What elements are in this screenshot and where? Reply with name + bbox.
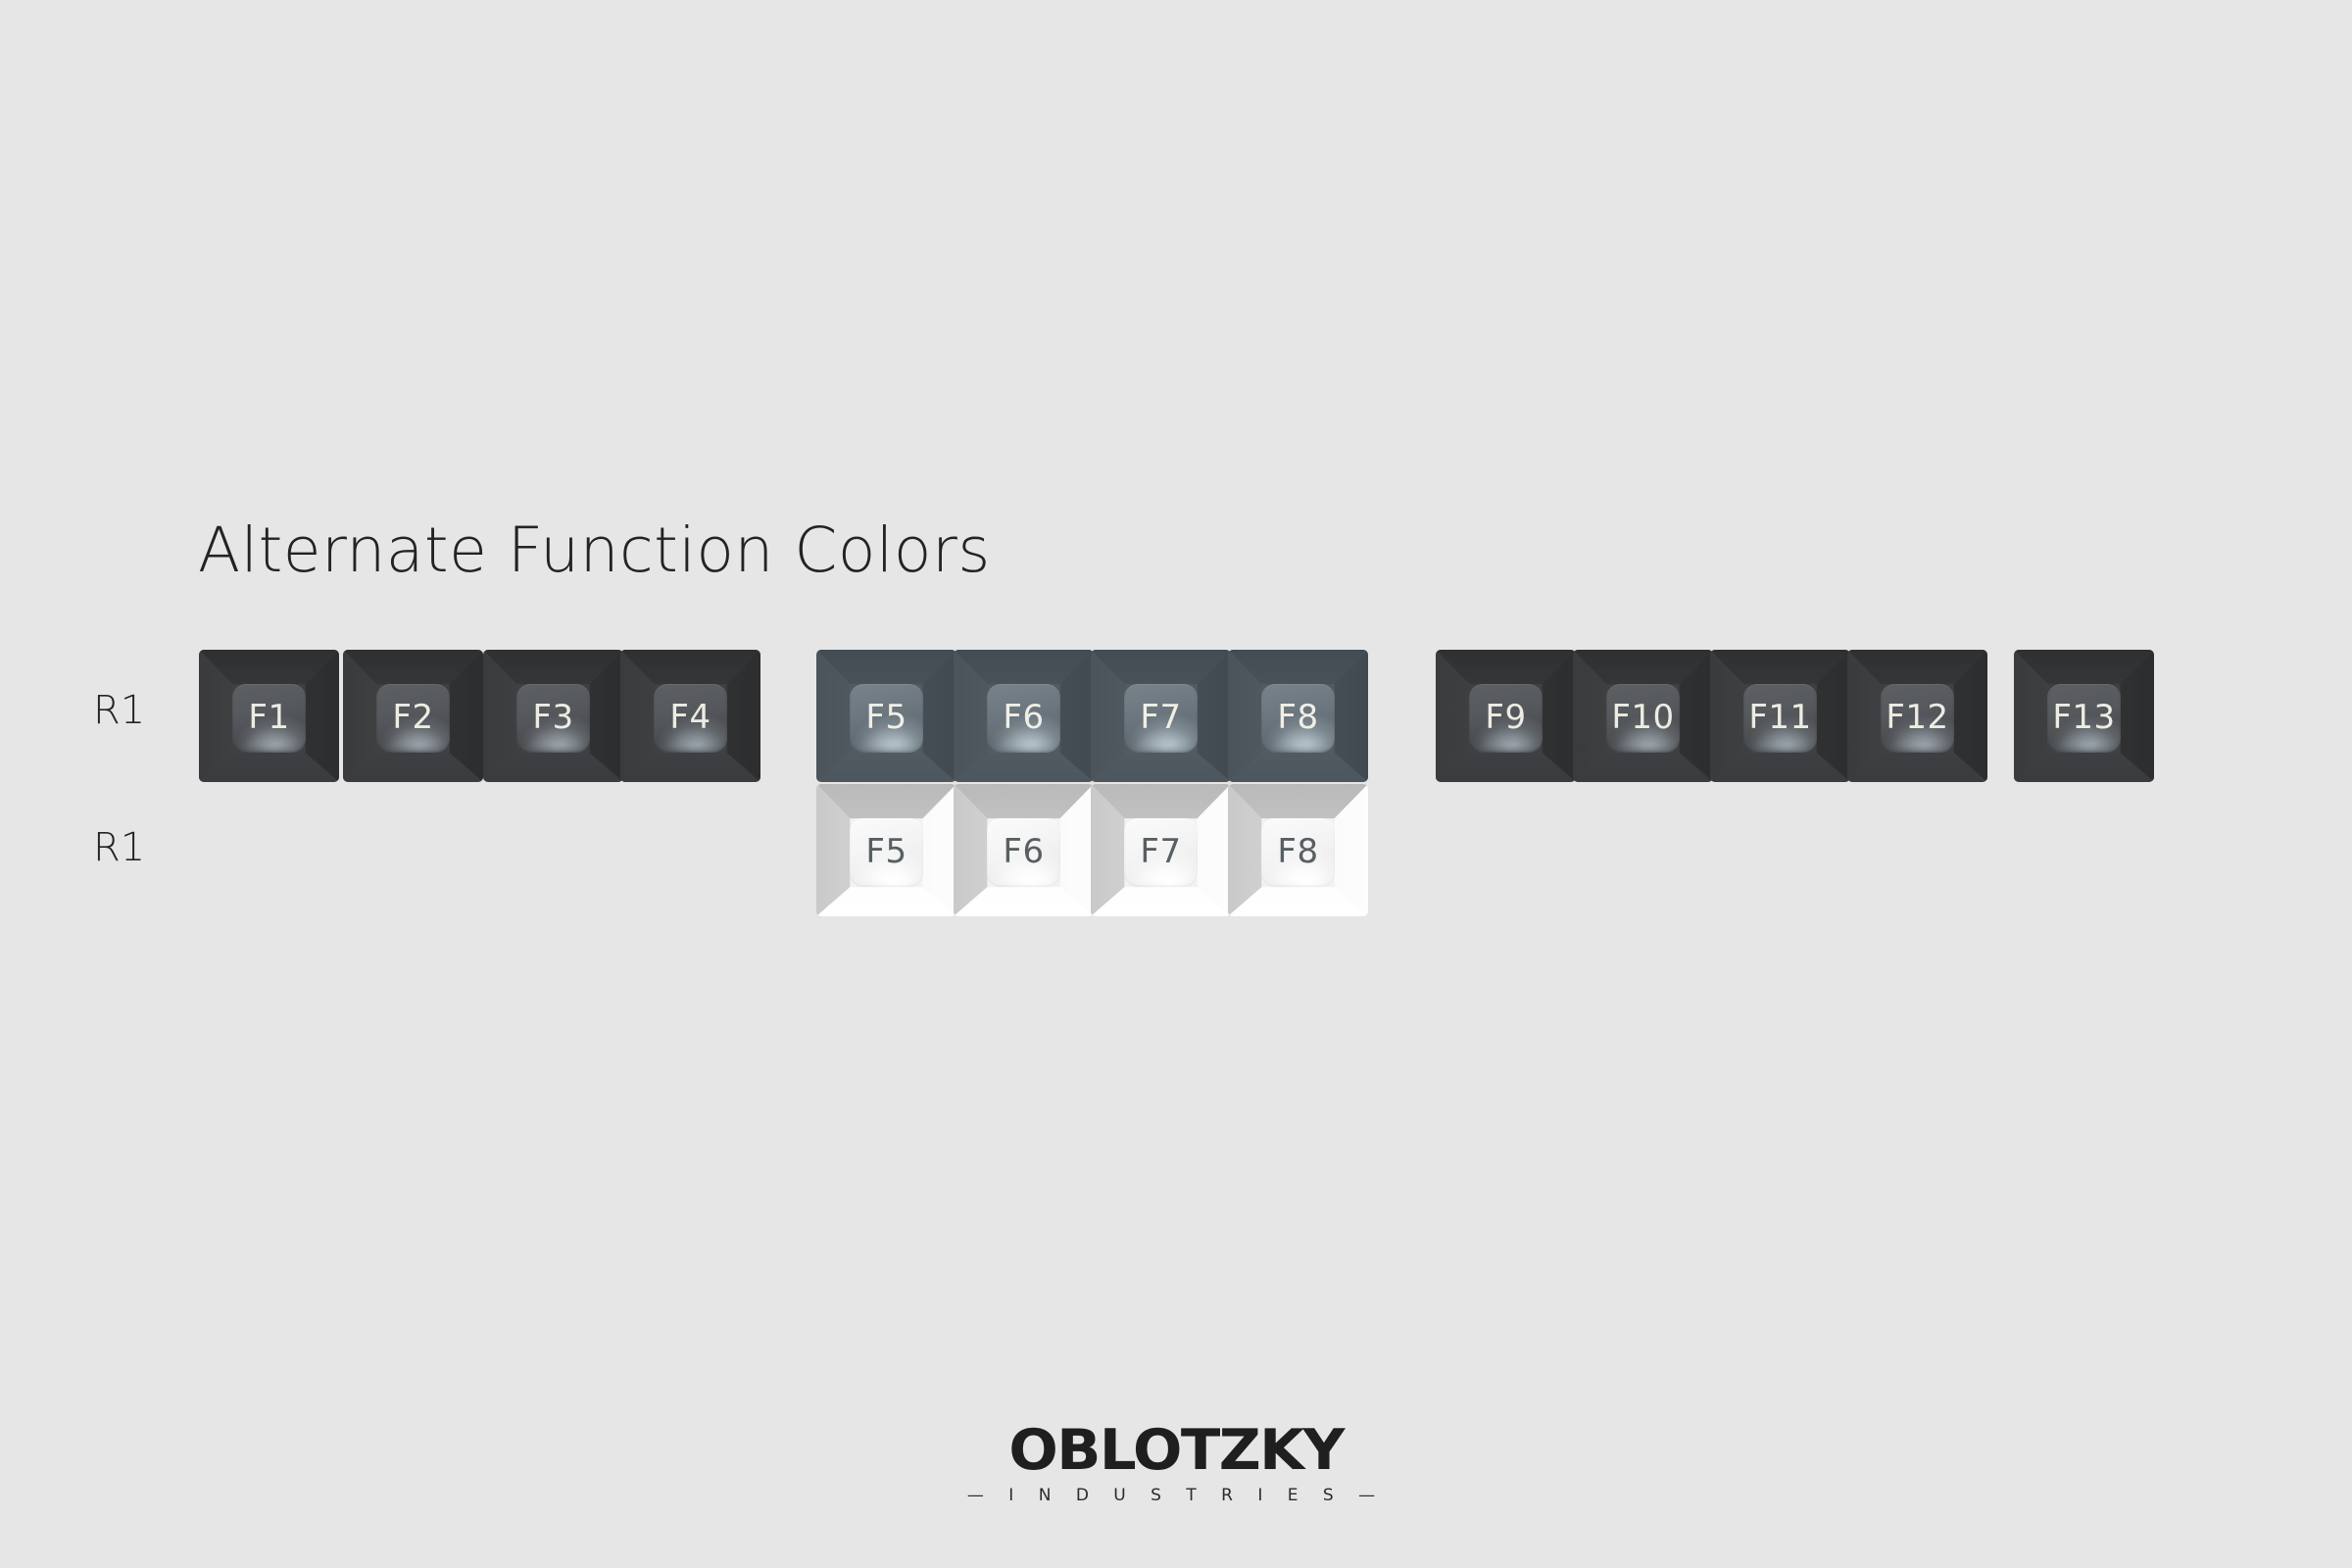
row-label-r1-bottom: R1 [93,828,145,867]
keycap-f10-f9-f12-dark[interactable]: F10 [1573,650,1713,782]
keycap-f6-f5-f8-slate[interactable]: F6 [954,650,1094,782]
keycap-f8-f5-f8-white[interactable]: F8 [1228,784,1368,916]
keycap-legend: F10 [1611,701,1674,734]
keycap-legend: F8 [1277,835,1318,868]
logo-subtitle: — I N D U S T R I E S — [0,1488,2352,1504]
keycap-legend: F12 [1886,701,1948,734]
keycap-f2-f1-f4-dark[interactable]: F2 [343,650,483,782]
row-label-r1-top: R1 [93,691,145,730]
keycap-legend: F9 [1485,701,1526,734]
keycap-f4-f1-f4-dark[interactable]: F4 [620,650,760,782]
keycap-f12-f9-f12-dark[interactable]: F12 [1847,650,1987,782]
keycap-legend: F1 [248,701,289,734]
keycap-legend: F8 [1277,701,1318,734]
keycap-f11-f9-f12-dark[interactable]: F11 [1710,650,1850,782]
keycap-top-surface: F6 [987,818,1059,887]
keycap-legend: F11 [1748,701,1811,734]
keycap-legend: F7 [1140,835,1181,868]
keycap-top-surface: F10 [1606,684,1679,753]
keycap-legend: F2 [392,701,433,734]
keycap-f5-f5-f8-slate[interactable]: F5 [816,650,956,782]
keycap-legend: F3 [532,701,573,734]
keycap-top-surface: F7 [1124,684,1197,753]
keycap-legend: F5 [865,835,906,868]
keycap-legend: F4 [669,701,710,734]
keycap-f7-f5-f8-white[interactable]: F7 [1091,784,1231,916]
keycap-top-surface: F11 [1743,684,1816,753]
logo-wordmark: OBLOTZKY [1008,1423,1343,1479]
keycap-top-surface: F9 [1469,684,1542,753]
keycap-top-surface: F5 [850,684,922,753]
keycap-top-surface: F4 [654,684,726,753]
keycap-f7-f5-f8-slate[interactable]: F7 [1091,650,1231,782]
keycap-top-surface: F8 [1261,818,1334,887]
keycap-top-surface: F2 [376,684,449,753]
keycap-top-surface: F8 [1261,684,1334,753]
page-title: Alternate Function Colors [198,519,991,581]
keycap-f8-f5-f8-slate[interactable]: F8 [1228,650,1368,782]
keycap-legend: F6 [1003,701,1044,734]
keycap-f5-f5-f8-white[interactable]: F5 [816,784,956,916]
keycap-top-surface: F3 [516,684,589,753]
keycap-f9-f9-f12-dark[interactable]: F9 [1436,650,1576,782]
keycap-render-canvas: Alternate Function Colors R1 R1 F1F2F3F4… [0,0,2352,1568]
keycap-top-surface: F6 [987,684,1059,753]
keycap-f6-f5-f8-white[interactable]: F6 [954,784,1094,916]
keycap-top-surface: F12 [1881,684,1953,753]
keycap-top-surface: F7 [1124,818,1197,887]
keycap-top-surface: F5 [850,818,922,887]
keycap-f1-f1-f4-dark[interactable]: F1 [199,650,339,782]
keycap-f13-f13-dark[interactable]: F13 [2014,650,2154,782]
keycap-top-surface: F13 [2047,684,2120,753]
keycap-legend: F5 [865,701,906,734]
brand-logo: OBLOTZKY — I N D U S T R I E S — [0,1423,2352,1504]
keycap-legend: F13 [2052,701,2115,734]
keycap-f3-f1-f4-dark[interactable]: F3 [483,650,623,782]
keycap-legend: F6 [1003,835,1044,868]
keycap-top-surface: F1 [232,684,305,753]
keycap-legend: F7 [1140,701,1181,734]
